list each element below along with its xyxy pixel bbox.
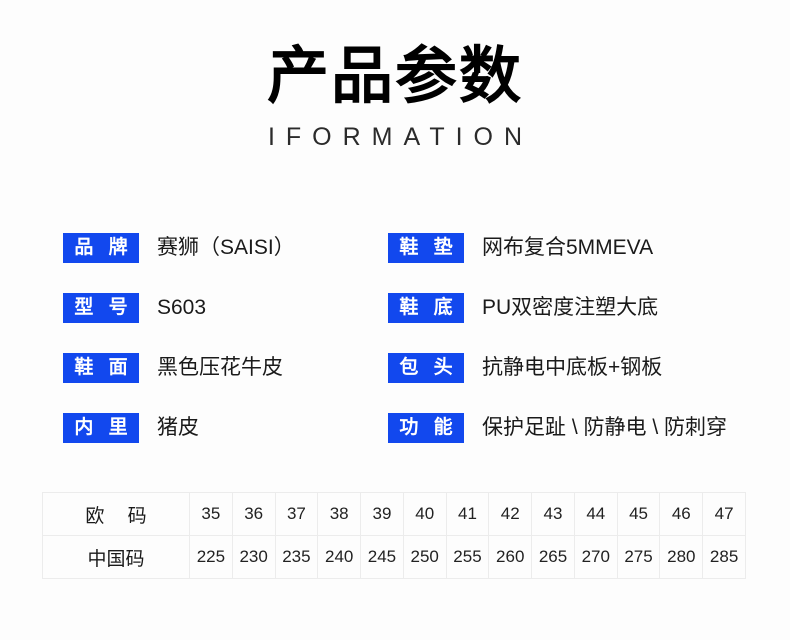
specification-grid: 品 牌 赛狮（SAISI） 型 号 S603 鞋 面 黑色压花牛皮 内 里 猪皮… xyxy=(0,218,790,458)
size-cell: 255 xyxy=(446,536,489,579)
spec-value-outsole: PU双密度注塑大底 xyxy=(482,295,658,320)
spec-label-insole: 鞋 垫 xyxy=(388,233,464,263)
spec-label-brand: 品 牌 xyxy=(63,233,139,263)
spec-row-brand: 品 牌 赛狮（SAISI） xyxy=(63,218,388,278)
spec-column-left: 品 牌 赛狮（SAISI） 型 号 S603 鞋 面 黑色压花牛皮 内 里 猪皮 xyxy=(63,218,388,458)
size-cell: 35 xyxy=(190,493,233,536)
size-cell: 43 xyxy=(532,493,575,536)
spec-label-outsole: 鞋 底 xyxy=(388,293,464,323)
size-cell: 39 xyxy=(361,493,404,536)
spec-value-upper: 黑色压花牛皮 xyxy=(157,355,283,380)
spec-row-model: 型 号 S603 xyxy=(63,278,388,338)
spec-label-model: 型 号 xyxy=(63,293,139,323)
spec-row-toecap: 包 头 抗静电中底板+钢板 xyxy=(388,338,748,398)
spec-column-right: 鞋 垫 网布复合5MMEVA 鞋 底 PU双密度注塑大底 包 头 抗静电中底板+… xyxy=(388,218,748,458)
page-subtitle: IFORMATION xyxy=(0,109,790,150)
spec-value-insole: 网布复合5MMEVA xyxy=(482,235,653,260)
size-cell: 275 xyxy=(617,536,660,579)
size-cell: 45 xyxy=(617,493,660,536)
spec-value-function: 保护足趾 \ 防静电 \ 防刺穿 xyxy=(482,415,727,440)
spec-row-outsole: 鞋 底 PU双密度注塑大底 xyxy=(388,278,748,338)
size-table: 欧 码 35 36 37 38 39 40 41 42 43 44 45 46 … xyxy=(42,492,746,579)
size-cell: 41 xyxy=(446,493,489,536)
size-row-header-cn: 中国码 xyxy=(43,536,190,579)
table-row: 中国码 225 230 235 240 245 250 255 260 265 … xyxy=(43,536,746,579)
size-cell: 44 xyxy=(574,493,617,536)
size-cell: 280 xyxy=(660,536,703,579)
spec-value-toecap: 抗静电中底板+钢板 xyxy=(482,355,662,380)
spec-value-model: S603 xyxy=(157,295,206,320)
size-cell: 38 xyxy=(318,493,361,536)
spec-value-lining: 猪皮 xyxy=(157,415,199,440)
page-header: 产品参数 IFORMATION xyxy=(0,0,790,150)
spec-label-lining: 内 里 xyxy=(63,413,139,443)
spec-label-upper: 鞋 面 xyxy=(63,353,139,383)
size-cell: 235 xyxy=(275,536,318,579)
size-cell: 230 xyxy=(232,536,275,579)
size-row-header-cn-label: 中国码 xyxy=(87,544,144,571)
size-cell: 240 xyxy=(318,536,361,579)
size-cell: 260 xyxy=(489,536,532,579)
size-cell: 270 xyxy=(574,536,617,579)
size-cell: 47 xyxy=(703,493,746,536)
page-title: 产品参数 xyxy=(0,0,790,109)
size-cell: 265 xyxy=(532,536,575,579)
spec-row-upper: 鞋 面 黑色压花牛皮 xyxy=(63,338,388,398)
size-cell: 46 xyxy=(660,493,703,536)
size-cell: 36 xyxy=(232,493,275,536)
size-cell: 245 xyxy=(361,536,404,579)
size-row-header-eu: 欧 码 xyxy=(43,493,190,536)
size-cell: 250 xyxy=(403,536,446,579)
spec-value-brand: 赛狮（SAISI） xyxy=(157,235,295,260)
size-cell: 37 xyxy=(275,493,318,536)
size-cell: 285 xyxy=(703,536,746,579)
size-cell: 42 xyxy=(489,493,532,536)
size-cell: 40 xyxy=(403,493,446,536)
spec-row-lining: 内 里 猪皮 xyxy=(63,398,388,458)
size-chart: 欧 码 35 36 37 38 39 40 41 42 43 44 45 46 … xyxy=(42,492,746,579)
spec-row-insole: 鞋 垫 网布复合5MMEVA xyxy=(388,218,748,278)
table-row: 欧 码 35 36 37 38 39 40 41 42 43 44 45 46 … xyxy=(43,493,746,536)
size-cell: 225 xyxy=(190,536,233,579)
spec-label-function: 功 能 xyxy=(388,413,464,443)
spec-row-function: 功 能 保护足趾 \ 防静电 \ 防刺穿 xyxy=(388,398,748,458)
spec-label-toecap: 包 头 xyxy=(388,353,464,383)
size-row-header-eu-label: 欧 码 xyxy=(76,501,155,528)
